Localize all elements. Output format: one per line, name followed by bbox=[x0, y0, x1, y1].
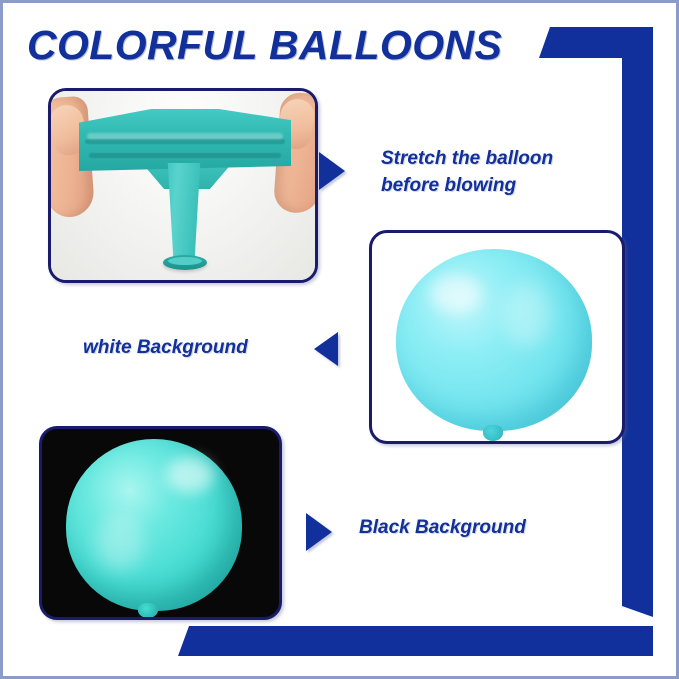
caption-stretch: Stretch the balloon before blowing bbox=[381, 146, 553, 200]
balloon-knot bbox=[138, 603, 158, 618]
triangle-left-icon bbox=[314, 332, 338, 366]
decor-bar-right bbox=[622, 27, 653, 617]
balloon-highlight-secondary bbox=[504, 283, 550, 347]
balloon-highlight-primary bbox=[430, 275, 482, 313]
photo-stretch-balloon bbox=[51, 91, 315, 280]
balloon-fold-upper bbox=[85, 139, 285, 144]
photo-balloon-black-bg bbox=[42, 429, 279, 617]
balloon-lip bbox=[163, 255, 207, 270]
decor-bar-bottom bbox=[178, 626, 653, 656]
balloon-light-cyan bbox=[396, 249, 592, 431]
image-card-white-background bbox=[369, 230, 625, 444]
triangle-right-icon bbox=[306, 513, 332, 551]
caption-black-background: Black Background bbox=[359, 515, 526, 542]
triangle-right-icon bbox=[319, 152, 345, 190]
balloon-turquoise bbox=[66, 439, 242, 611]
balloon-highlight-secondary bbox=[96, 515, 144, 571]
balloon-highlight-primary bbox=[166, 457, 214, 493]
page-title: COLORFUL BALLOONS bbox=[27, 22, 502, 69]
balloon-knot bbox=[483, 425, 503, 441]
poster-canvas: COLORFUL BALLOONS Stretch the balloon be… bbox=[0, 0, 679, 679]
photo-balloon-white-bg bbox=[372, 233, 622, 441]
image-card-stretch bbox=[48, 88, 318, 283]
balloon-fold-lower bbox=[89, 153, 281, 158]
image-card-black-background bbox=[39, 426, 282, 620]
caption-white-background: white Background bbox=[83, 335, 248, 362]
